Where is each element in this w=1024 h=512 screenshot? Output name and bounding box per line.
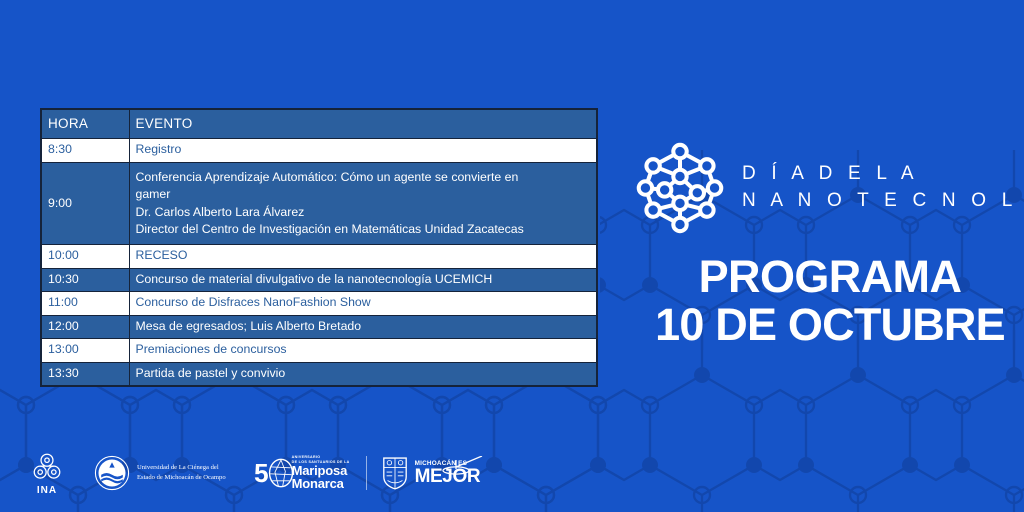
evento-line: Concurso de Disfraces NanoFashion Show bbox=[136, 294, 591, 311]
headline-block: PROGRAMA 10 DE OCTUBRE bbox=[634, 253, 1024, 348]
michoacan-boat-flourish-icon bbox=[430, 456, 484, 476]
ucemich-line2: Estado de Michoacán de Ocampo bbox=[137, 473, 226, 483]
evento-line: Premiaciones de concursos bbox=[136, 341, 591, 358]
michoacan-wordmark: MICHOACÁN ES MEJOR bbox=[415, 460, 481, 486]
aniversario-big2: Monarca bbox=[292, 477, 350, 490]
evento-line: Partida de pastel y convivio bbox=[136, 365, 591, 382]
aniversario-numeral-5-icon: 5 bbox=[254, 458, 268, 488]
footer-logo-strip: INA Universidad de La Ciénega del Estado… bbox=[30, 450, 480, 496]
brand-title: D Í A D E L A N A N O T E C N O L O G Í … bbox=[742, 161, 1024, 215]
ina-label: INA bbox=[37, 485, 57, 496]
right-panel: D Í A D E L A N A N O T E C N O L O G Í … bbox=[618, 0, 1024, 512]
cell-evento: Concurso de material divulgativo de la n… bbox=[129, 268, 597, 291]
ucemich-logo: Universidad de La Ciénega del Estado de … bbox=[94, 455, 226, 491]
schedule-table-container: HORA EVENTO 8:30 Registro 9:00 Conferenc… bbox=[40, 108, 598, 387]
table-row: 12:00 Mesa de egresados; Luis Alberto Br… bbox=[41, 315, 597, 338]
brand-title-line2: N A N O T E C N O L O G Í A bbox=[742, 188, 1024, 215]
table-header-row: HORA EVENTO bbox=[41, 109, 597, 139]
cell-hora: 10:30 bbox=[41, 268, 129, 291]
cell-evento: RECESO bbox=[129, 245, 597, 268]
table-row: 13:00 Premiaciones de concursos bbox=[41, 339, 597, 362]
cell-evento: Premiaciones de concursos bbox=[129, 339, 597, 362]
table-row: 11:00 Concurso de Disfraces NanoFashion … bbox=[41, 292, 597, 315]
ucemich-line1: Universidad de La Ciénega del bbox=[137, 463, 226, 473]
ucemich-seal-icon bbox=[94, 455, 130, 491]
cell-hora: 11:00 bbox=[41, 292, 129, 315]
cell-evento: Conferencia Aprendizaje Automático: Cómo… bbox=[129, 162, 597, 245]
ina-emblem-icon bbox=[30, 450, 64, 484]
headline-date: 10 DE OCTUBRE bbox=[634, 301, 1024, 349]
cell-hora: 8:30 bbox=[41, 139, 129, 162]
evento-line: Mesa de egresados; Luis Alberto Bretado bbox=[136, 318, 591, 335]
nanotechnology-network-icon bbox=[632, 138, 728, 238]
cell-evento: Registro bbox=[129, 139, 597, 162]
column-header-evento: EVENTO bbox=[129, 109, 597, 139]
headline-programa: PROGRAMA bbox=[634, 253, 1024, 301]
cell-hora: 13:30 bbox=[41, 362, 129, 386]
aniversario-number: 5 bbox=[254, 458, 268, 488]
column-header-hora: HORA bbox=[41, 109, 129, 139]
cell-hora: 10:00 bbox=[41, 245, 129, 268]
mariposa-monarca-butterfly-icon bbox=[268, 458, 294, 488]
table-row: 8:30 Registro bbox=[41, 139, 597, 162]
evento-line: Director del Centro de Investigación en … bbox=[136, 221, 591, 238]
footer-divider bbox=[366, 456, 367, 490]
aniversario-big1: Mariposa bbox=[292, 464, 350, 477]
table-row: 9:00 Conferencia Aprendizaje Automático:… bbox=[41, 162, 597, 245]
brand-lockup: D Í A D E L A N A N O T E C N O L O G Í … bbox=[632, 138, 1024, 238]
aniversario-wordmark: ANIVERSARIO DE LOS SANTUARIOS DE LA Mari… bbox=[292, 455, 350, 490]
table-row: 10:30 Concurso de material divulgativo d… bbox=[41, 268, 597, 291]
michoacan-coat-of-arms-icon bbox=[381, 456, 409, 490]
brand-title-line1: D Í A D E L A bbox=[742, 163, 919, 184]
michoacan-logo: MICHOACÁN ES MEJOR bbox=[381, 456, 481, 490]
evento-line: RECESO bbox=[136, 247, 591, 264]
cell-hora: 13:00 bbox=[41, 339, 129, 362]
table-row: 13:30 Partida de pastel y convivio bbox=[41, 362, 597, 386]
evento-line: gamer bbox=[136, 186, 591, 203]
evento-line: Dr. Carlos Alberto Lara Álvarez bbox=[136, 204, 591, 221]
table-row: 10:00 RECESO bbox=[41, 245, 597, 268]
cell-evento: Partida de pastel y convivio bbox=[129, 362, 597, 386]
ucemich-wordmark: Universidad de La Ciénega del Estado de … bbox=[137, 463, 226, 482]
cell-hora: 9:00 bbox=[41, 162, 129, 245]
aniversario-logo: 5 ANIVERSARIO DE LOS SANTUARIOS DE LA Ma… bbox=[254, 455, 350, 490]
evento-line: Concurso de material divulgativo de la n… bbox=[136, 271, 591, 288]
schedule-table: HORA EVENTO 8:30 Registro 9:00 Conferenc… bbox=[40, 108, 598, 387]
cell-hora: 12:00 bbox=[41, 315, 129, 338]
evento-line: Conferencia Aprendizaje Automático: Cómo… bbox=[136, 169, 591, 186]
cell-evento: Mesa de egresados; Luis Alberto Bretado bbox=[129, 315, 597, 338]
ina-logo: INA bbox=[30, 450, 64, 496]
evento-line: Registro bbox=[136, 141, 591, 158]
cell-evento: Concurso de Disfraces NanoFashion Show bbox=[129, 292, 597, 315]
